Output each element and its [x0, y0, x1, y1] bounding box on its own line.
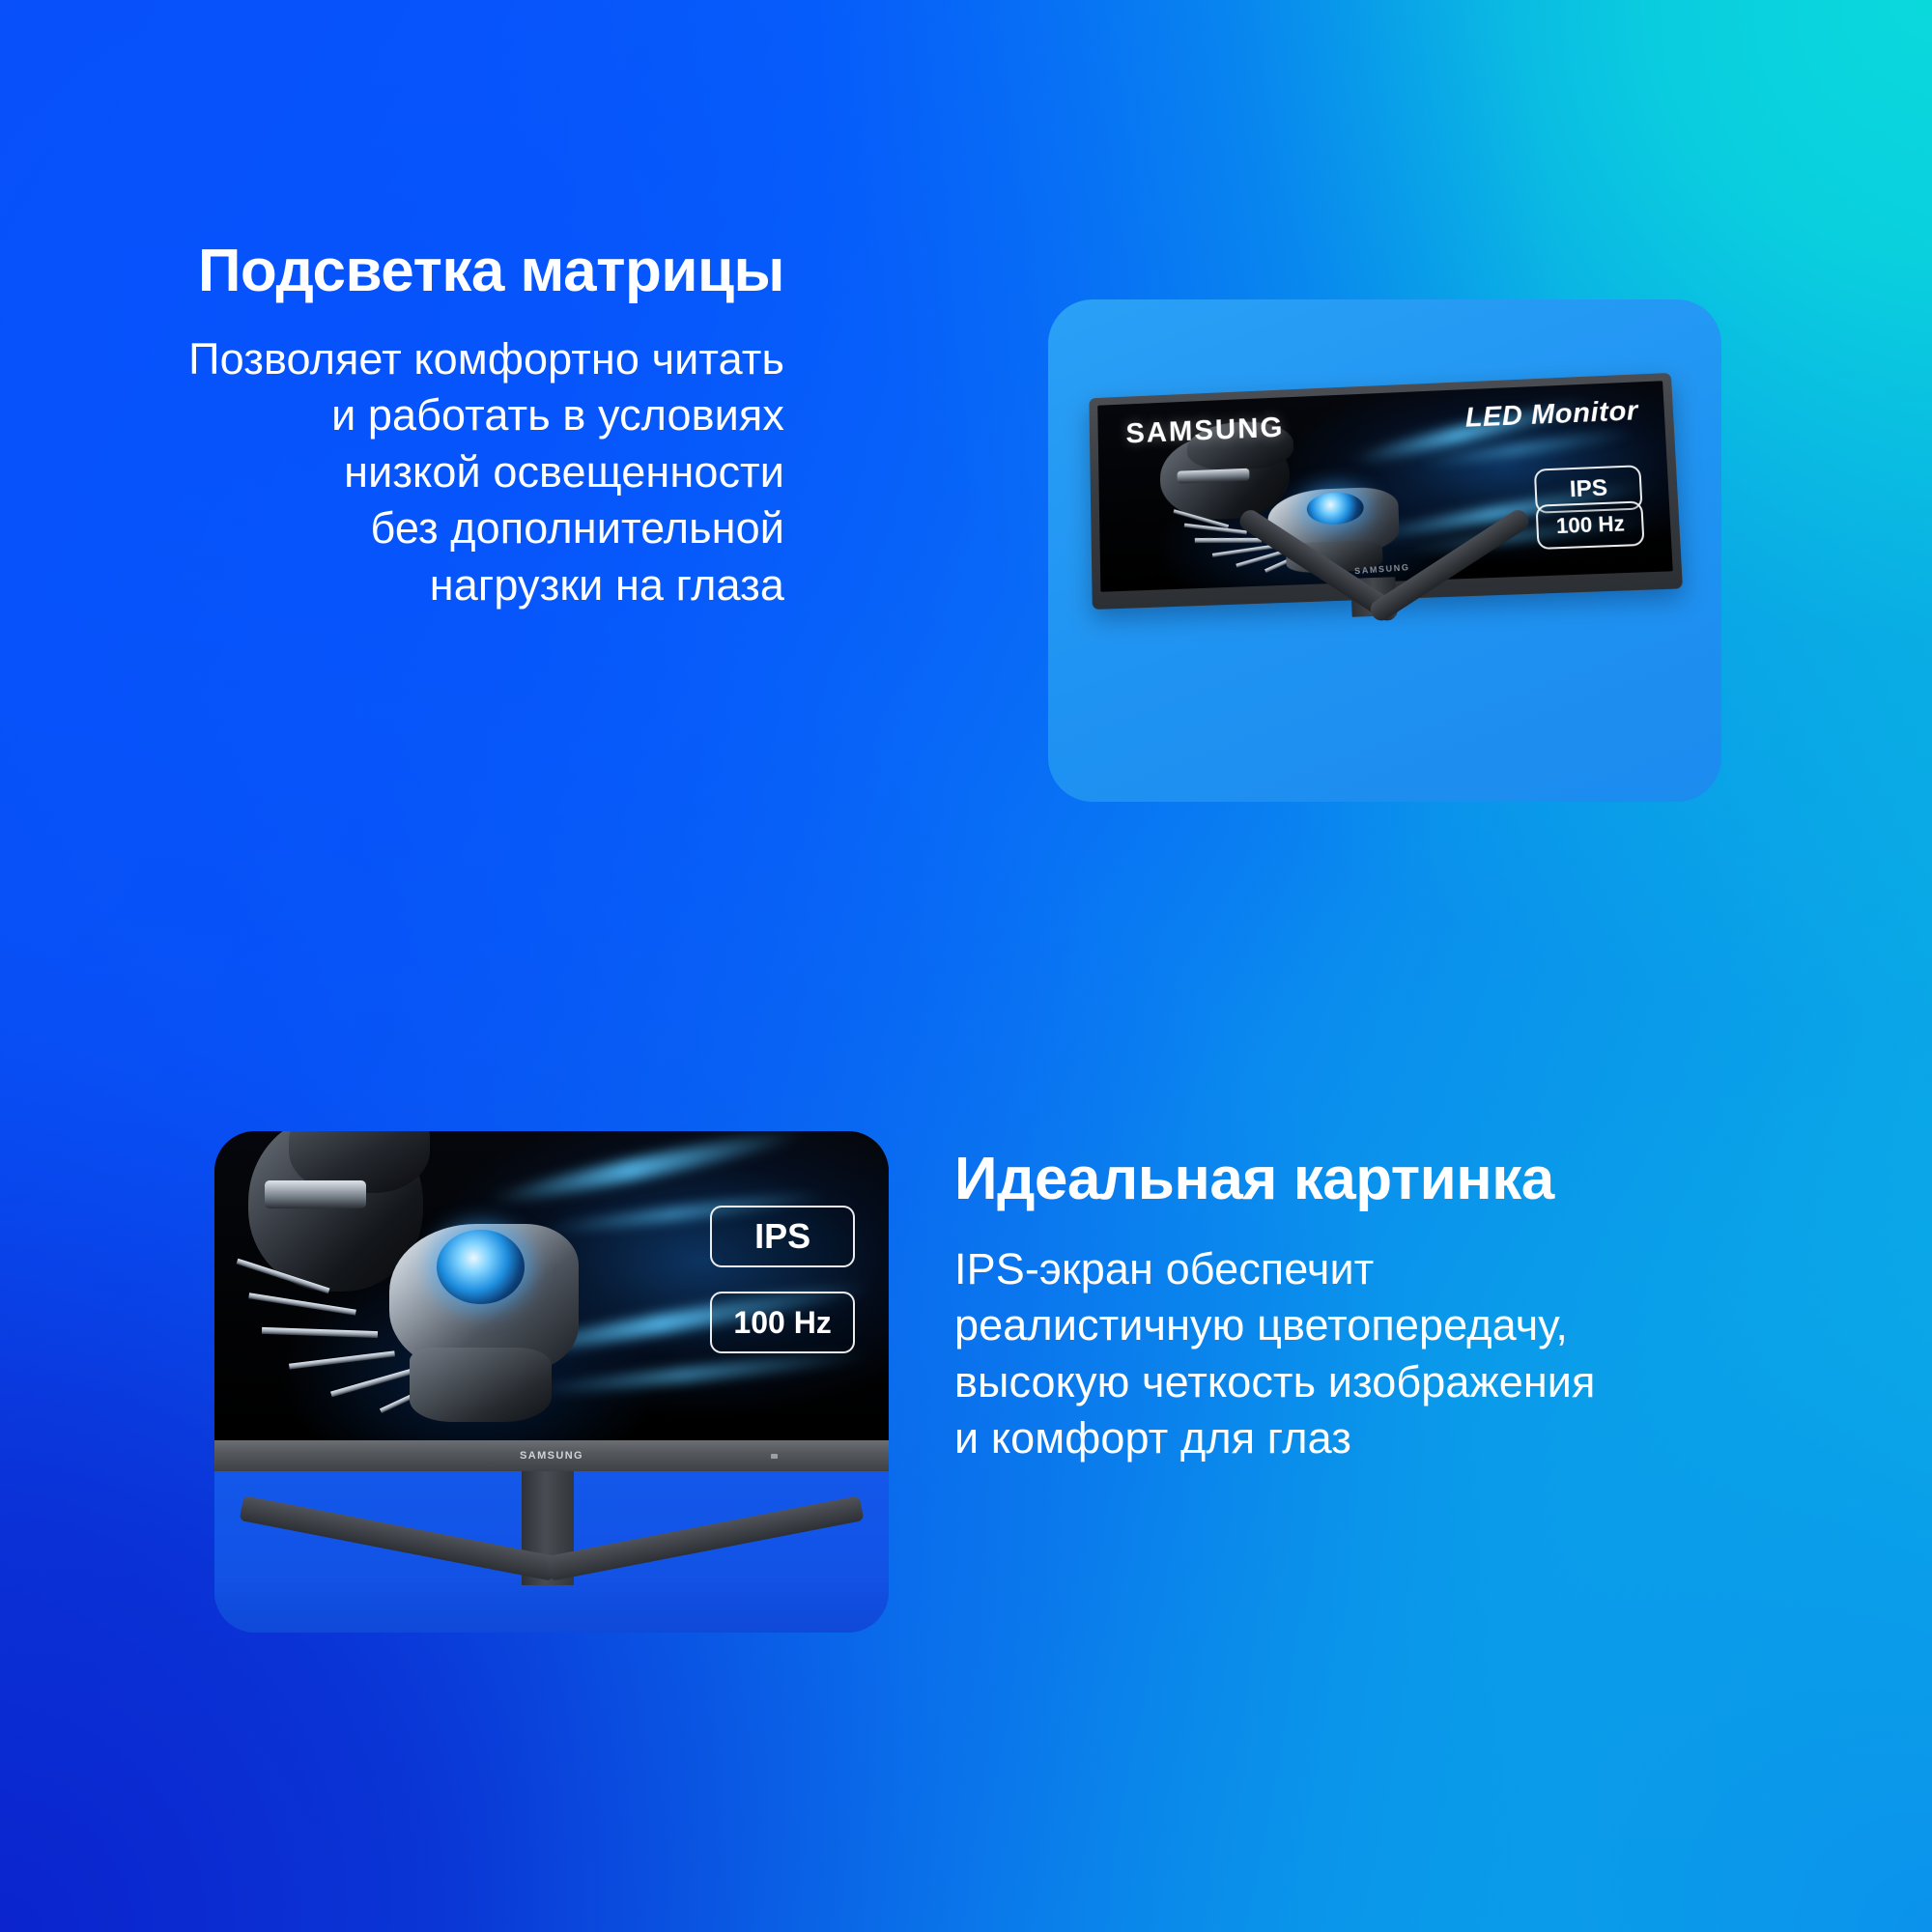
perfect-picture-body-line-4: и комфорт для глаз — [954, 1410, 1824, 1467]
monitor-chassis: SAMSUNG LED Monitor IPS 100 Hz SAMSUNG — [1089, 373, 1683, 610]
backlight-body-line-1: Позволяет комфортно читать — [145, 331, 784, 388]
screen-character-visor — [265, 1180, 366, 1208]
backlight-body-line-4: без дополнительной — [145, 500, 784, 557]
perfect-picture-body-line-2: реалистичную цветопередачу, — [954, 1297, 1824, 1354]
screen-brand-logo: SAMSUNG — [1125, 412, 1285, 450]
backlight-body-line-5: нагрузки на глаза — [145, 557, 784, 614]
perfect-picture-text-block: Идеальная картинка IPS-экран обеспечит р… — [954, 1148, 1824, 1467]
badge-ips: IPS — [710, 1206, 855, 1267]
screen-weapon-grip — [410, 1348, 552, 1422]
monitor-screen-closeup: IPS 100 Hz — [214, 1131, 889, 1440]
screen-glowing-lens — [437, 1230, 525, 1304]
perfect-picture-body-line-1: IPS-экран обеспечит — [954, 1241, 1824, 1298]
backlight-text-block: Подсветка матрицы Позволяет комфортно чи… — [145, 240, 784, 613]
backlight-body-line-2: и работать в условиях — [145, 387, 784, 444]
badge-refresh-rate: 100 Hz — [710, 1292, 855, 1353]
perfect-picture-product-card: IPS 100 Hz SAMSUNG — [214, 1131, 889, 1633]
monitor-bezel-brand: SAMSUNG — [214, 1440, 889, 1471]
monitor-screen: SAMSUNG LED Monitor IPS 100 Hz — [1097, 381, 1673, 591]
backlight-body-line-3: низкой освещенности — [145, 444, 784, 501]
monitor-power-led — [771, 1454, 778, 1459]
monitor-front-view: SAMSUNG LED Monitor IPS 100 Hz SAMSUNG — [1087, 384, 1686, 771]
screen-spike — [1195, 538, 1262, 543]
perfect-picture-body-line-3: высокую четкость изображения — [954, 1354, 1824, 1411]
backlight-product-card: SAMSUNG LED Monitor IPS 100 Hz SAMSUNG — [1048, 299, 1721, 802]
perfect-picture-heading: Идеальная картинка — [954, 1148, 1824, 1212]
badge-refresh-rate: 100 Hz — [1536, 501, 1645, 551]
backlight-heading: Подсветка матрицы — [145, 240, 784, 304]
